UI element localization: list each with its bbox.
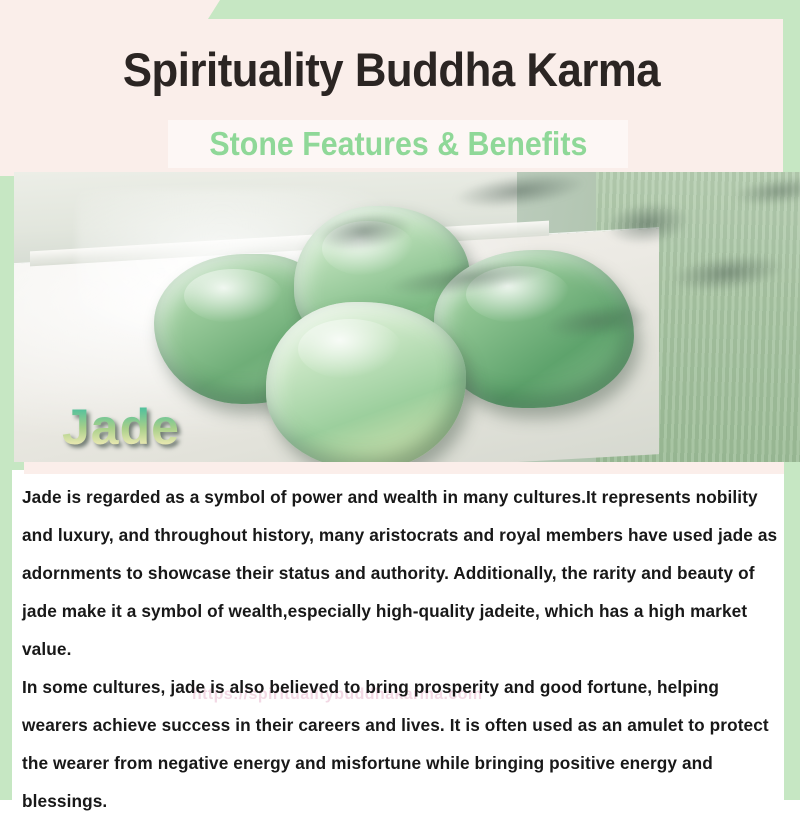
article-paragraph-2: In some cultures, jade is also believed … [22,668,788,820]
page-title: Spirituality Buddha Karma [27,42,755,97]
photo-under-strip [24,462,784,474]
subtitle-text: Stone Features & Benefits [209,125,587,163]
subtitle-box: Stone Features & Benefits [168,120,628,168]
header-banner: Spirituality Buddha Karma Stone Features… [0,0,783,176]
left-green-rail [0,462,12,800]
page-root: Spirituality Buddha Karma Stone Features… [0,0,800,800]
article-body: Jade is regarded as a symbol of power an… [22,478,788,820]
header-top-green-band [208,0,800,19]
photo-caption-jade: Jade [62,398,180,456]
article-paragraph-1: Jade is regarded as a symbol of power an… [22,478,788,668]
